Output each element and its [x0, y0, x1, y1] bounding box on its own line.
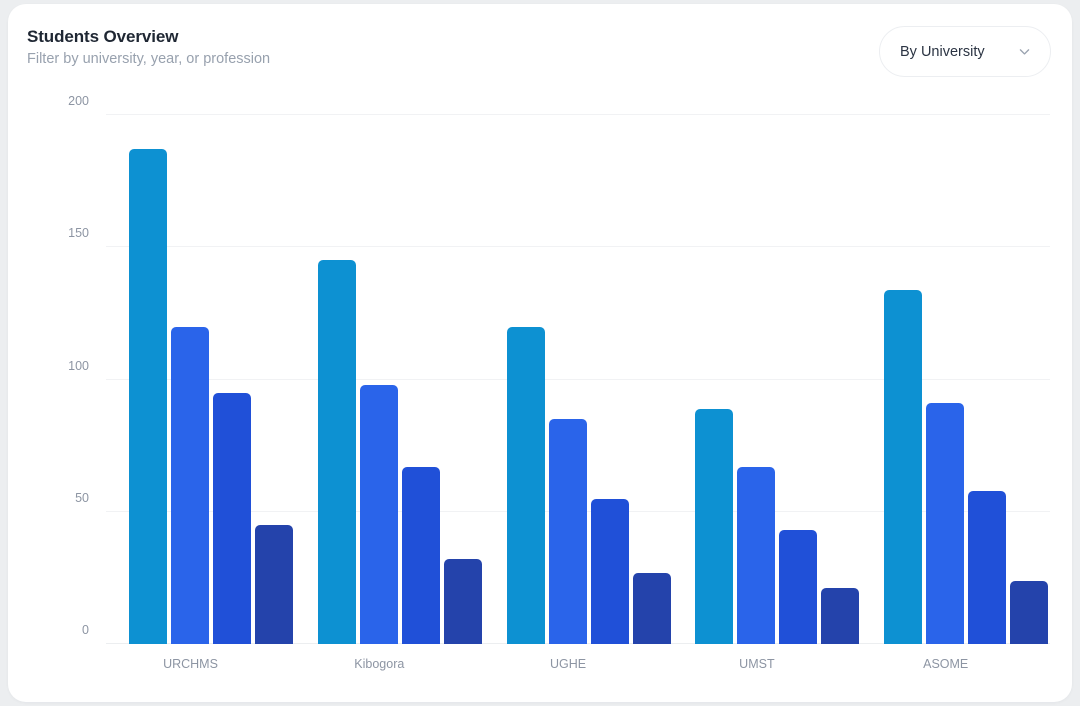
filter-dropdown[interactable]: By University [879, 26, 1051, 77]
bar[interactable] [695, 409, 733, 644]
page-subtitle: Filter by university, year, or professio… [27, 49, 270, 69]
bar-group: ASOME [861, 115, 1050, 644]
title-block: Students Overview Filter by university, … [27, 26, 270, 69]
bar-group-bars [484, 115, 673, 644]
bar[interactable] [737, 467, 775, 644]
y-axis-tick-label: 50 [75, 491, 89, 505]
bar-group-bars [106, 115, 295, 644]
plot-area: 050100150200URCHMSKibogoraUGHEUMSTASOME [106, 115, 1050, 644]
bar-group: URCHMS [106, 115, 295, 644]
students-overview-card: Students Overview Filter by university, … [8, 4, 1072, 702]
bar[interactable] [129, 149, 167, 644]
y-axis-tick-label: 0 [82, 623, 89, 637]
bar-group: UGHE [484, 115, 673, 644]
bar[interactable] [968, 491, 1006, 644]
bar[interactable] [821, 588, 859, 644]
bar[interactable] [926, 403, 964, 644]
bar[interactable] [444, 559, 482, 644]
x-axis-category-label: Kibogora [318, 657, 441, 671]
bar[interactable] [402, 467, 440, 644]
x-axis-category-label: URCHMS [129, 657, 252, 671]
bar-group: UMST [672, 115, 861, 644]
y-axis-tick-label: 150 [68, 226, 89, 240]
bar[interactable] [633, 573, 671, 644]
bar[interactable] [255, 525, 293, 644]
card-header: Students Overview Filter by university, … [8, 4, 1072, 96]
bar[interactable] [318, 260, 356, 644]
bar-group-bars [295, 115, 484, 644]
bar[interactable] [1010, 581, 1048, 644]
filter-dropdown-label: By University [900, 44, 985, 60]
bar-group-bars [861, 115, 1050, 644]
bar[interactable] [171, 327, 209, 644]
bar-group: Kibogora [295, 115, 484, 644]
chevron-down-icon [1018, 45, 1031, 58]
y-axis-tick-label: 200 [68, 94, 89, 108]
y-axis-tick-label: 100 [68, 359, 89, 373]
page-title: Students Overview [27, 26, 270, 48]
bar-group-bars [672, 115, 861, 644]
x-axis-category-label: UMST [695, 657, 818, 671]
bar[interactable] [779, 530, 817, 644]
bar[interactable] [591, 499, 629, 644]
bar-groups: URCHMSKibogoraUGHEUMSTASOME [106, 115, 1050, 644]
bar[interactable] [360, 385, 398, 644]
bar[interactable] [549, 419, 587, 644]
bar[interactable] [507, 327, 545, 644]
bar[interactable] [213, 393, 251, 644]
x-axis-category-label: UGHE [507, 657, 630, 671]
x-axis-category-label: ASOME [884, 657, 1007, 671]
bar[interactable] [884, 290, 922, 644]
bar-chart: 050100150200URCHMSKibogoraUGHEUMSTASOME [8, 96, 1072, 702]
